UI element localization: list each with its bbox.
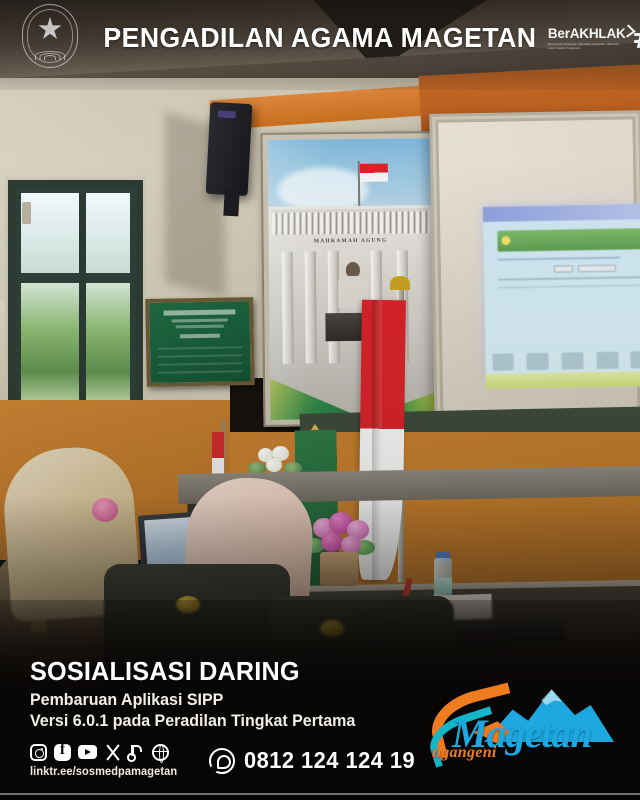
hash-stroke bbox=[634, 33, 640, 36]
projected-button bbox=[553, 266, 572, 273]
hash-stroke bbox=[634, 40, 640, 43]
notice-rule bbox=[158, 362, 242, 365]
court-seal-icon bbox=[22, 4, 78, 68]
social-column: linktr.ee/sosmedpamagetan bbox=[30, 744, 183, 778]
magetan-tourism-logo: Magetan ngangeni bbox=[426, 682, 626, 774]
projection-screen bbox=[429, 110, 640, 436]
whatsapp-icon bbox=[209, 748, 235, 774]
hash-stroke bbox=[636, 28, 640, 48]
notice-rule bbox=[158, 346, 242, 349]
projected-success-banner bbox=[497, 228, 640, 252]
header-logo-group: BerAKHLAK Berorientasi Pelayanan, Akunta… bbox=[548, 23, 640, 53]
mahkamah-agung-poster: MAHKAMAH AGUNG bbox=[260, 131, 441, 427]
projected-toolbar-icon bbox=[561, 352, 583, 369]
caption-subtitle-line-1: Pembaruan Aplikasi SIPP bbox=[30, 690, 418, 711]
poster-header: PENGADILAN AGAMA MAGETAN BerAKHLAK Beror… bbox=[0, 0, 640, 90]
berakhlak-subtitle: Berorientasi Pelayanan, Akuntabel, Kompe… bbox=[548, 43, 626, 51]
whatsapp-contact[interactable]: 0812 124 124 19 bbox=[209, 747, 424, 778]
projected-toolbar-icon bbox=[631, 351, 640, 368]
green-notice-board bbox=[145, 297, 255, 387]
projected-banner-icon bbox=[501, 236, 510, 245]
speaker-mount bbox=[223, 190, 239, 217]
social-media-poster: MAHKAMAH AGUNG bbox=[0, 0, 640, 800]
caption-subtitle: Pembaruan Aplikasi SIPP Versi 6.0.1 pada… bbox=[30, 690, 418, 732]
notice-rule bbox=[159, 370, 243, 373]
seal-arcs-icon bbox=[35, 44, 65, 60]
magetan-tagline: ngangeni bbox=[432, 744, 497, 762]
wall-speaker bbox=[206, 102, 253, 196]
window-handle bbox=[22, 202, 31, 224]
projected-title-bar bbox=[483, 204, 640, 222]
berakhlak-wordmark: BerAKHLAK bbox=[548, 26, 626, 41]
notice-title-line bbox=[163, 309, 235, 315]
screen-surface bbox=[438, 119, 637, 426]
flag-pole-finial bbox=[390, 276, 410, 290]
tiktok-icon[interactable] bbox=[128, 744, 145, 761]
projected-text-line bbox=[497, 257, 619, 261]
projected-toolbar bbox=[492, 351, 640, 371]
instagram-icon[interactable] bbox=[30, 744, 47, 761]
flower bbox=[321, 532, 343, 552]
window-pane-top bbox=[21, 193, 130, 273]
tiktok-note-icon bbox=[127, 753, 136, 762]
facebook-icon[interactable] bbox=[54, 744, 71, 761]
caption-footer: linktr.ee/sosmedpamagetan 0812 124 124 1… bbox=[30, 744, 430, 778]
website-globe-icon[interactable] bbox=[152, 744, 169, 761]
bottom-divider bbox=[0, 793, 640, 795]
berakhlak-logo: BerAKHLAK Berorientasi Pelayanan, Akunta… bbox=[548, 25, 626, 51]
poster-indonesian-flag bbox=[360, 164, 388, 182]
projected-toolbar-icon bbox=[492, 354, 514, 371]
youtube-icon[interactable] bbox=[78, 745, 97, 759]
seal-star-icon bbox=[38, 17, 62, 41]
flower-vase bbox=[320, 552, 358, 586]
notice-sub-line-3 bbox=[180, 334, 220, 339]
projected-toolbar-icon bbox=[527, 353, 549, 370]
projected-toolbar-icon bbox=[596, 352, 618, 369]
hash-icon bbox=[634, 28, 640, 48]
notice-rule bbox=[158, 354, 242, 357]
bottle-label bbox=[434, 578, 452, 593]
seal-arc bbox=[44, 55, 56, 60]
poster-artwork: MAHKAMAH AGUNG bbox=[268, 138, 435, 420]
bangga-melayani-bangsa-logo: bangga melayani bangsa bbox=[634, 23, 640, 53]
notice-sub-line-2 bbox=[176, 325, 224, 329]
caption-subtitle-line-2: Versi 6.0.1 pada Peradilan Tingkat Perta… bbox=[30, 711, 418, 732]
projected-text-line bbox=[498, 285, 640, 290]
projected-application-window bbox=[483, 204, 640, 374]
caption-block: SOSIALISASI DARING Pembaruan Aplikasi SI… bbox=[30, 658, 430, 778]
social-icon-row bbox=[30, 744, 183, 761]
flower bbox=[266, 458, 282, 472]
linktree-url[interactable]: linktr.ee/sosmedpamagetan bbox=[30, 766, 177, 778]
window-pane-middle bbox=[21, 283, 130, 401]
projected-text-line bbox=[498, 276, 640, 281]
caption-title: SOSIALISASI DARING bbox=[30, 658, 418, 685]
phone-number: 0812 124 124 19 bbox=[244, 747, 415, 774]
page-title: PENGADILAN AGAMA MAGETAN bbox=[103, 22, 536, 54]
projected-button bbox=[578, 265, 617, 273]
speaker-led bbox=[218, 110, 236, 118]
hijab-flower-pin bbox=[92, 498, 118, 522]
projected-taskbar bbox=[485, 371, 640, 389]
x-twitter-icon[interactable] bbox=[104, 744, 121, 761]
notice-sub-line-1 bbox=[172, 318, 228, 322]
